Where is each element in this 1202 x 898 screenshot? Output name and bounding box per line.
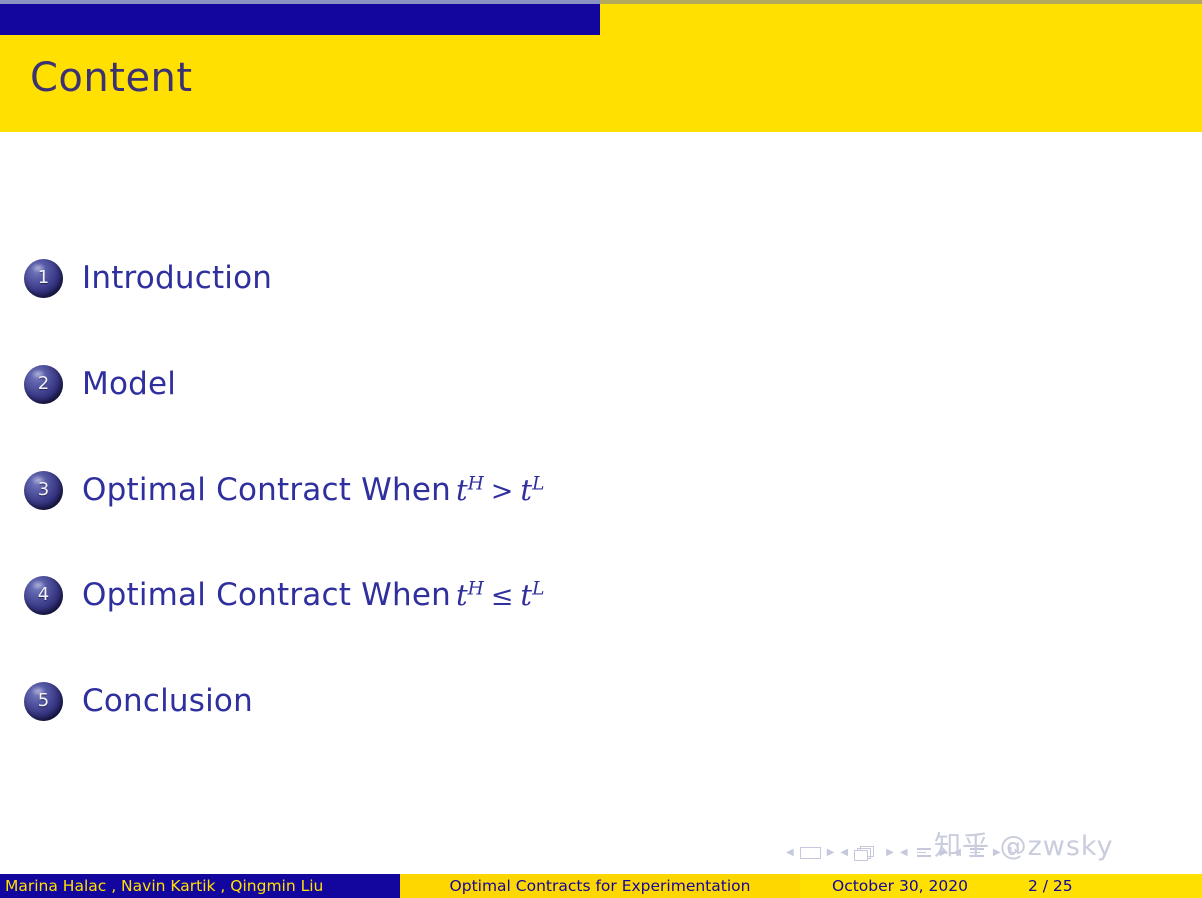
math-rhs-sup: L — [532, 473, 544, 494]
math-rhs-sup: L — [532, 578, 544, 599]
bullet-number: 2 — [38, 375, 49, 393]
prev-section-icon[interactable]: ◀ — [950, 848, 964, 858]
frame-stack-icon[interactable] — [854, 846, 880, 859]
table-of-contents: 1 Introduction 2 Model 3 Optimal Contrac… — [0, 132, 1202, 852]
beamer-navigation-bar[interactable]: ◀ ▶ ◀ ▶ ◀ ▶ ◀ ▶ ↻ — [783, 846, 1021, 859]
toc-item-optimal-contract-high-leq[interactable]: 4 Optimal Contract When tH≤tL — [24, 573, 544, 617]
next-slide-icon[interactable]: ▶ — [824, 848, 838, 858]
subsection-lines-icon[interactable] — [914, 846, 934, 859]
section-number-bullet-icon: 4 — [24, 576, 63, 615]
slide-footer: Marina Halac , Navin Kartik , Qingmin Li… — [0, 874, 1202, 898]
math-lhs-sup: H — [468, 578, 484, 599]
footer-right: October 30, 2020 2 / 25 — [800, 874, 1202, 898]
toc-item-optimal-contract-high-greater[interactable]: 3 Optimal Contract When tH>tL — [24, 468, 544, 512]
section-number-bullet-icon: 5 — [24, 682, 63, 721]
footer-date: October 30, 2020 — [832, 877, 968, 895]
bullet-number: 3 — [38, 481, 49, 499]
math-lhs-sup: H — [468, 473, 484, 494]
back-arrow-icon[interactable]: ↻ — [1004, 846, 1021, 859]
header-bar-yellow — [600, 4, 1202, 35]
section-number-bullet-icon: 3 — [24, 471, 63, 510]
next-subsection-icon[interactable]: ▶ — [937, 848, 951, 858]
toc-item-label: Model — [82, 369, 176, 400]
math-rhs-base: t — [520, 578, 532, 612]
bullet-number: 4 — [38, 586, 49, 604]
prev-subsection-icon[interactable]: ◀ — [897, 848, 911, 858]
header-bar-blue — [0, 4, 600, 35]
math-lhs-base: t — [456, 578, 468, 612]
toc-item-conclusion[interactable]: 5 Conclusion — [24, 679, 253, 723]
prev-slide-icon[interactable]: ◀ — [783, 848, 797, 858]
prev-frame-icon[interactable]: ◀ — [837, 848, 851, 858]
bullet-number: 5 — [38, 692, 49, 710]
section-lines-icon[interactable] — [967, 846, 987, 859]
next-section-icon[interactable]: ▶ — [990, 848, 1004, 858]
toc-item-label: Optimal Contract When — [82, 580, 451, 611]
next-frame-icon[interactable]: ▶ — [883, 848, 897, 858]
math-relation: ≤ — [484, 581, 521, 612]
footer-page-number: 2 / 25 — [1028, 877, 1073, 895]
footer-authors: Marina Halac , Navin Kartik , Qingmin Li… — [0, 874, 400, 898]
toc-item-math: tH≤tL — [451, 578, 544, 612]
toc-item-label: Conclusion — [82, 686, 253, 717]
toc-item-label: Optimal Contract When — [82, 475, 451, 506]
toc-item-math: tH>tL — [451, 473, 544, 507]
toc-item-label: Introduction — [82, 263, 272, 294]
footer-title: Optimal Contracts for Experimentation — [400, 874, 800, 898]
math-rhs-base: t — [520, 473, 532, 507]
bullet-number: 1 — [38, 269, 49, 287]
section-number-bullet-icon: 2 — [24, 365, 63, 404]
toc-item-model[interactable]: 2 Model — [24, 362, 176, 406]
slide-box-icon[interactable] — [800, 847, 821, 859]
math-relation: > — [484, 476, 521, 507]
page-title: Content — [30, 58, 193, 98]
section-number-bullet-icon: 1 — [24, 259, 63, 298]
math-lhs-base: t — [456, 473, 468, 507]
toc-item-introduction[interactable]: 1 Introduction — [24, 256, 272, 300]
